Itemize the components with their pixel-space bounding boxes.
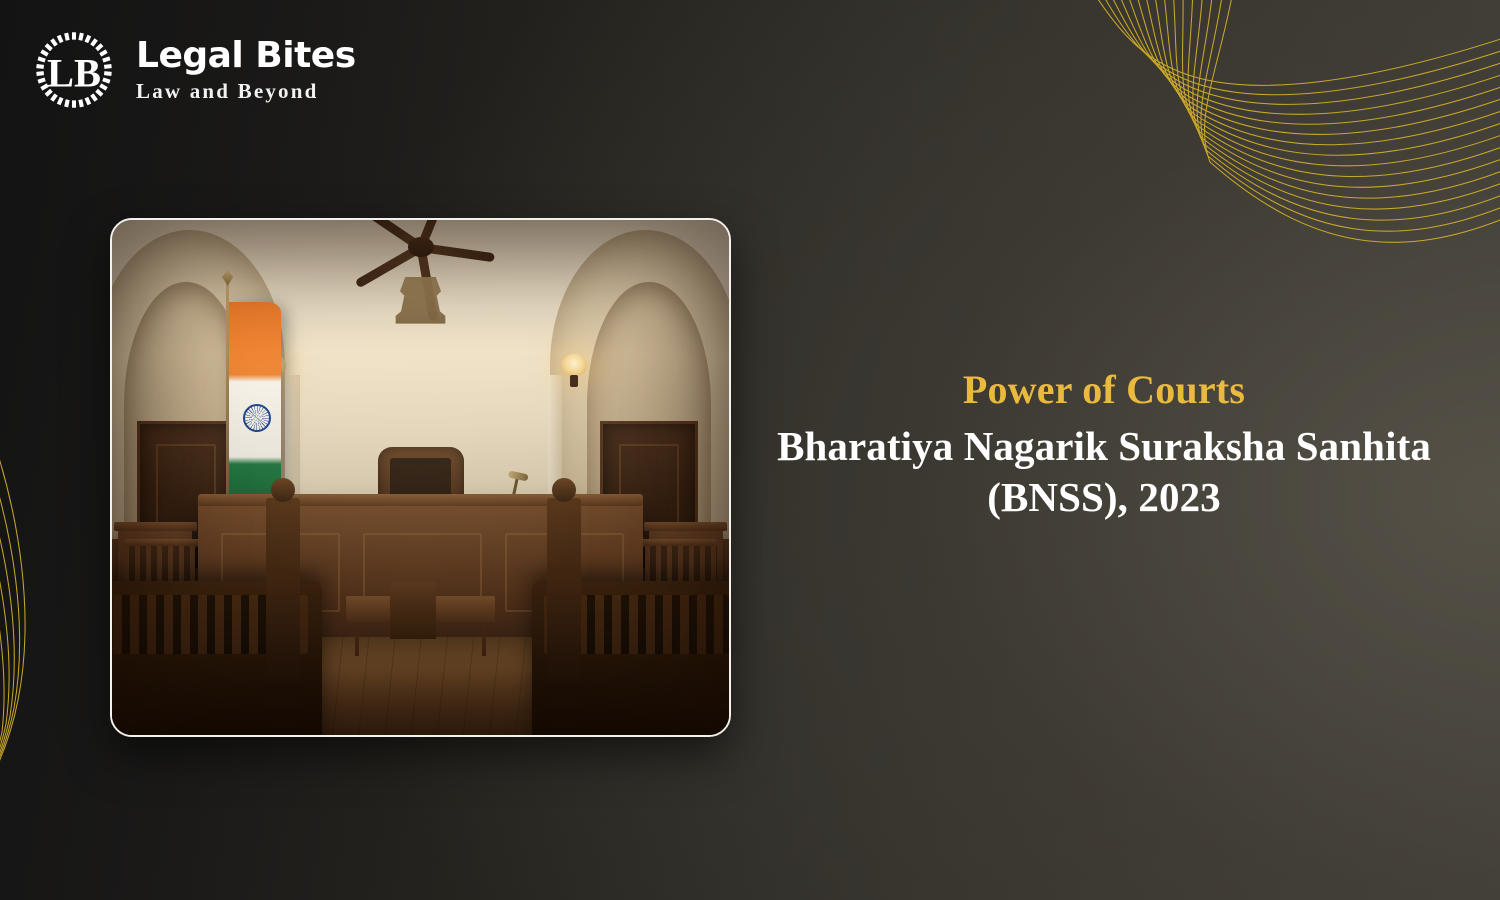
brand-name: Legal Bites	[136, 37, 356, 75]
gold-wave-lines-top-right-icon	[1040, 0, 1500, 260]
brand-text: Legal Bites Law and Beyond	[136, 35, 356, 105]
monogram-text: LB	[47, 51, 101, 96]
title-kicker: Power of Courts	[745, 368, 1463, 413]
title-line-1: Bharatiya Nagarik Suraksha Sanhita	[745, 421, 1463, 472]
title-line-2: (BNSS), 2023	[745, 472, 1463, 523]
courtroom-photo	[110, 218, 731, 737]
brand-tagline: Law and Beyond	[136, 78, 356, 105]
poster-canvas: LB Legal Bites Law and Beyond	[0, 0, 1500, 900]
photo-vignette	[112, 220, 729, 735]
title-block: Power of Courts Bharatiya Nagarik Suraks…	[745, 368, 1463, 522]
brand-logo[interactable]: LB Legal Bites Law and Beyond	[28, 24, 356, 116]
lb-monogram-ring-icon: LB	[28, 24, 120, 116]
